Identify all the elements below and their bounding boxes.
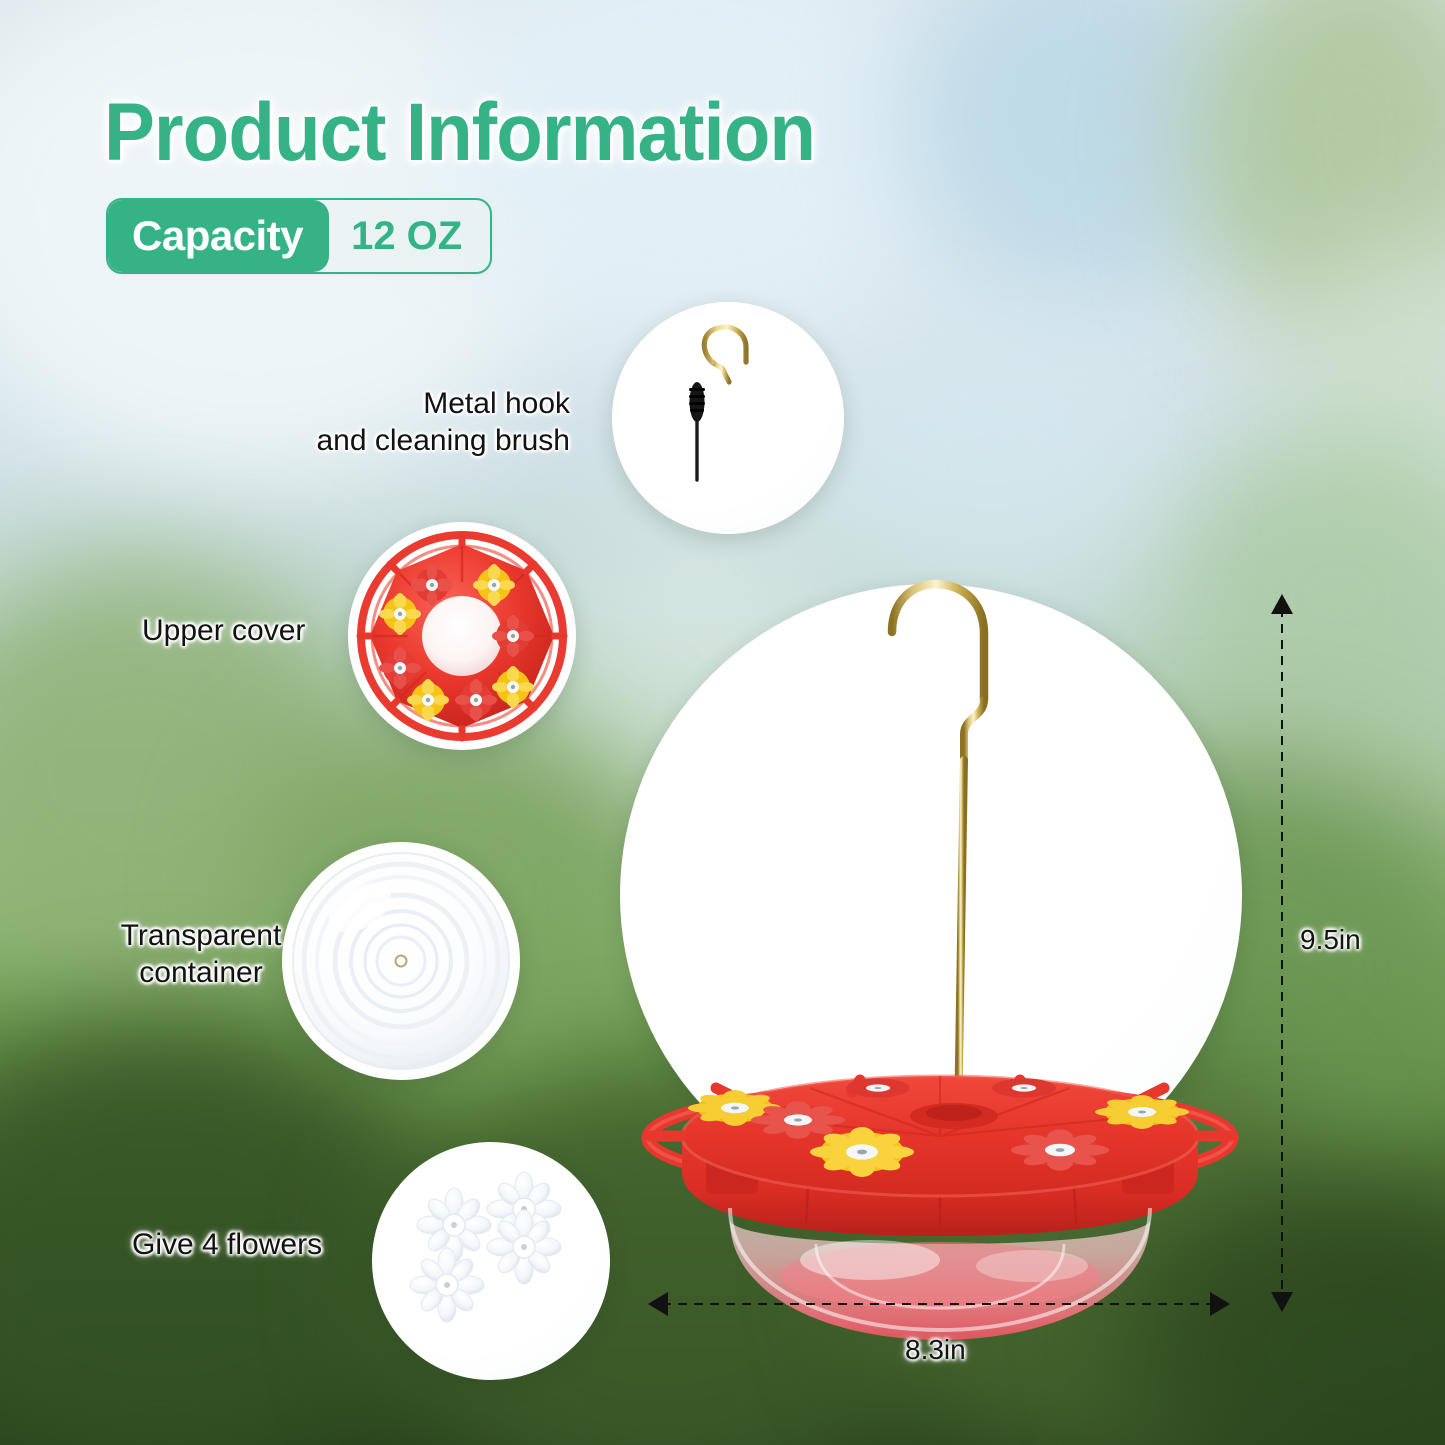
capacity-badge: Capacity 12 OZ bbox=[106, 198, 492, 274]
dimension-height-label: 9.5in bbox=[1300, 924, 1361, 956]
main-product-image bbox=[620, 560, 1260, 1340]
page-title: Product Information bbox=[104, 92, 815, 174]
thumbnail-upper-cover bbox=[348, 522, 576, 750]
metal-hook-brush-illustration bbox=[612, 302, 844, 534]
thumbnail-give-4-flowers bbox=[372, 1142, 610, 1380]
thumbnail-metal-hook-and-brush bbox=[612, 302, 844, 534]
callout-upper-cover: Upper cover bbox=[142, 613, 382, 650]
callout-metal-hook: Metal hook and cleaning brush bbox=[298, 386, 570, 459]
transparent-container-illustration bbox=[282, 842, 520, 1080]
metal-hook bbox=[892, 584, 984, 1122]
assembled-feeder-illustration bbox=[620, 560, 1260, 1340]
callout-give-4-flowers: Give 4 flowers bbox=[132, 1227, 362, 1264]
capacity-badge-value: 12 OZ bbox=[329, 200, 490, 272]
thumbnail-transparent-container bbox=[282, 842, 520, 1080]
upper-cover-illustration bbox=[348, 522, 576, 750]
dimension-width-label: 8.3in bbox=[905, 1334, 966, 1366]
dimension-height-arrow bbox=[1262, 592, 1302, 1314]
white-flowers-illustration bbox=[372, 1142, 610, 1380]
capacity-badge-label: Capacity bbox=[108, 200, 329, 272]
dimension-width-arrow bbox=[646, 1286, 1232, 1322]
height-arrow-icon bbox=[1262, 592, 1302, 1314]
width-arrow-icon bbox=[646, 1286, 1232, 1322]
